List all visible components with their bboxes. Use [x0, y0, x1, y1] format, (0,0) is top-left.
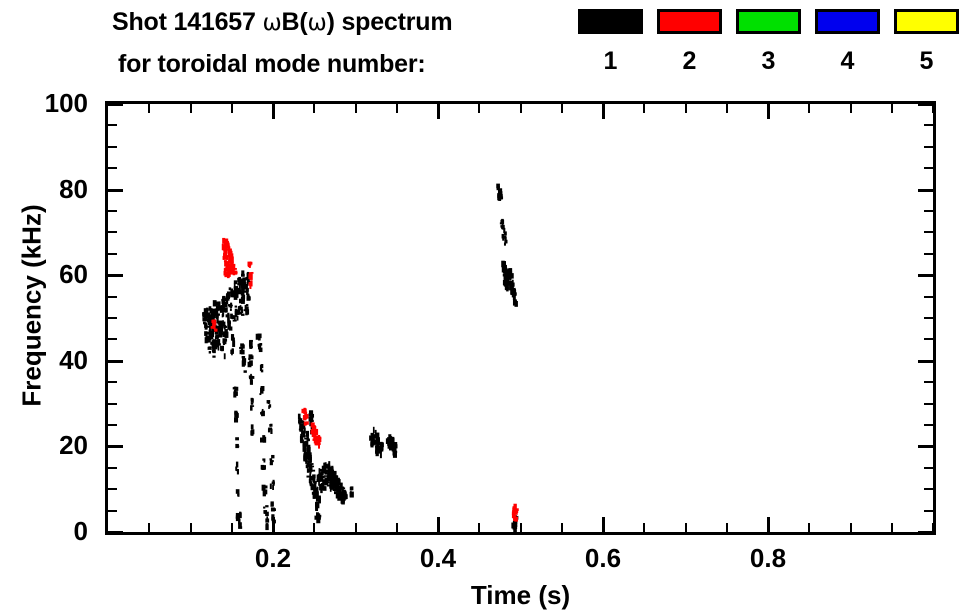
legend-label-1: 1 [578, 47, 643, 75]
x-tick-label-0.4: 0.4 [398, 545, 478, 571]
legend-item-3[interactable]: 3 [736, 9, 801, 34]
plot-title-suffix: ) spectrum [327, 8, 453, 36]
legend-label-3: 3 [736, 47, 801, 75]
omega-symbol-2: ω [308, 10, 327, 36]
y-tick-label-100: 100 [0, 90, 98, 116]
plot-title-line-1: Shot 141657 ωB(ω) spectrum [112, 8, 452, 37]
x-axis-title: Time (s) [105, 580, 936, 611]
legend-label-2: 2 [657, 47, 722, 75]
spectrogram-data-canvas [108, 104, 933, 532]
legend-swatch-toroidal-mode-2 [657, 9, 722, 34]
y-axis-title: Frequency (kHz) [17, 96, 48, 516]
y-tick-label-20: 20 [0, 432, 98, 458]
plot-title-shot-prefix: Shot 141657 [112, 8, 262, 36]
legend-swatch-toroidal-mode-3 [736, 9, 801, 34]
plot-title-line-2: for toroidal mode number: [118, 50, 426, 79]
x-tick-label-0.8: 0.8 [728, 545, 808, 571]
y-tick-label-60: 60 [0, 261, 98, 287]
y-axis-tick-labels: 020406080100 [0, 101, 98, 535]
axis-frame-right [933, 101, 936, 535]
y-tick-label-0: 0 [0, 518, 98, 544]
y-tick-label-80: 80 [0, 176, 98, 202]
legend-item-2[interactable]: 2 [657, 9, 722, 34]
legend-swatch-toroidal-mode-1 [578, 9, 643, 34]
axis-frame-bottom [105, 532, 936, 535]
legend-item-4[interactable]: 4 [815, 9, 880, 34]
y-tick-label-40: 40 [0, 347, 98, 373]
legend-label-5: 5 [894, 47, 959, 75]
series-2-points [211, 238, 519, 522]
plot-title-b-open: B( [282, 8, 308, 36]
omega-symbol-1: ω [262, 10, 281, 36]
legend-item-1[interactable]: 1 [578, 9, 643, 34]
x-tick-label-0.6: 0.6 [563, 545, 643, 571]
x-axis-tick-labels: 0.20.40.60.8 [105, 545, 936, 579]
legend-swatch-toroidal-mode-5 [894, 9, 959, 34]
spectrum-plot-figure: Shot 141657 ωB(ω) spectrum for toroidal … [0, 0, 963, 615]
legend-swatch-toroidal-mode-4 [815, 9, 880, 34]
legend: 12345 [578, 9, 958, 89]
x-tick-label-0.2: 0.2 [233, 545, 313, 571]
spectrogram-points [108, 104, 933, 532]
plot-area [105, 101, 936, 535]
legend-item-5[interactable]: 5 [894, 9, 959, 34]
legend-label-4: 4 [815, 47, 880, 75]
series-1-points [202, 184, 518, 532]
